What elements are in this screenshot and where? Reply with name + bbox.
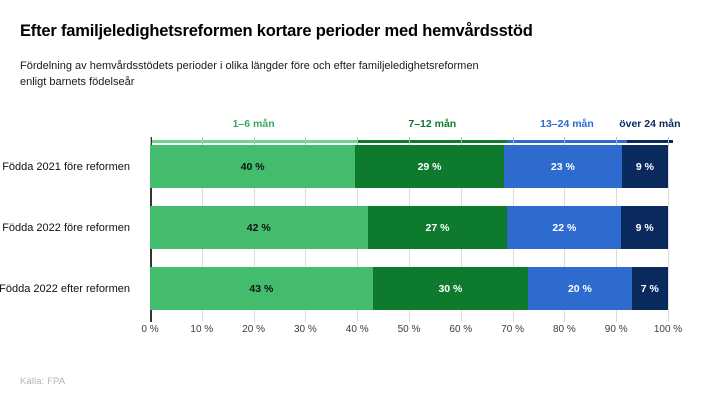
x-axis-tick <box>409 137 410 145</box>
x-axis-tick <box>254 137 255 145</box>
x-axis-tick <box>668 137 669 145</box>
x-axis-tick-label: 20 % <box>242 324 265 335</box>
legend-item[interactable]: över 24 mån <box>615 118 686 130</box>
bar-row[interactable]: 40 %29 %23 %9 % <box>150 145 668 188</box>
x-axis-tick <box>357 137 358 145</box>
bar-segment-value: 40 % <box>241 161 265 173</box>
bar-segment[interactable]: 40 % <box>150 145 355 188</box>
category-label: Födda 2022 före reformen <box>0 206 130 249</box>
x-axis-tick <box>616 137 617 145</box>
bar-segment-value: 29 % <box>418 161 442 173</box>
gridline <box>668 145 669 322</box>
chart-subtitle: Fördelning av hemvårdsstödets perioder i… <box>20 58 479 90</box>
bar-segment-value: 20 % <box>568 283 592 295</box>
bar-segment-value: 22 % <box>552 222 576 234</box>
x-axis-tick-label: 80 % <box>553 324 576 335</box>
category-axis-labels: Födda 2021 före reformenFödda 2022 före … <box>0 145 140 322</box>
bar-row[interactable]: 43 %30 %20 %7 % <box>150 267 668 310</box>
x-axis-tick <box>564 137 565 145</box>
bar-segment-value: 9 % <box>636 222 654 234</box>
bar-segment[interactable]: 27 % <box>368 206 508 249</box>
legend-item[interactable]: 13–24 mån <box>507 118 626 130</box>
bar-segment[interactable]: 22 % <box>507 206 621 249</box>
bar-segment[interactable]: 20 % <box>528 267 632 310</box>
chart-page: Efter familjeledighetsreformen kortare p… <box>0 0 720 405</box>
x-axis: 0 %10 %20 %30 %40 %50 %60 %70 %80 %90 %1… <box>150 324 668 344</box>
bar-segment-value: 43 % <box>249 283 273 295</box>
x-axis-tick-label: 30 % <box>294 324 317 335</box>
legend-color-rule <box>627 140 674 143</box>
source-note: Källa: FPA <box>20 376 65 387</box>
x-axis-tick <box>150 137 151 145</box>
x-axis-tick-label: 40 % <box>346 324 369 335</box>
x-axis-tick-label: 70 % <box>501 324 524 335</box>
chart-subtitle-line-1: Fördelning av hemvårdsstödets perioder i… <box>20 58 479 74</box>
x-axis-tick-label: 10 % <box>190 324 213 335</box>
bar-segment-value: 9 % <box>636 161 654 173</box>
bar-segment-value: 30 % <box>438 283 462 295</box>
x-axis-tick-label: 50 % <box>398 324 421 335</box>
x-axis-tick-label: 90 % <box>605 324 628 335</box>
plot-area: 40 %29 %23 %9 %42 %27 %22 %9 %43 %30 %20… <box>150 145 668 322</box>
bar-segment[interactable]: 23 % <box>504 145 622 188</box>
x-axis-tick <box>202 137 203 145</box>
chart-subtitle-line-2: enligt barnets födelseår <box>20 74 479 90</box>
legend-color-rule <box>357 140 507 143</box>
x-axis-tick-label: 60 % <box>449 324 472 335</box>
x-axis-tick-label: 100 % <box>654 324 682 335</box>
bar-segment[interactable]: 7 % <box>632 267 668 310</box>
bar-segment[interactable]: 9 % <box>621 206 668 249</box>
bar-segment-value: 7 % <box>641 283 659 295</box>
legend-color-rule <box>507 140 626 143</box>
bar-segment[interactable]: 42 % <box>150 206 368 249</box>
bar-row[interactable]: 42 %27 %22 %9 % <box>150 206 668 249</box>
bar-segment[interactable]: 30 % <box>373 267 528 310</box>
bar-segment-value: 27 % <box>426 222 450 234</box>
page-title: Efter familjeledighetsreformen kortare p… <box>20 22 533 41</box>
bar-segment[interactable]: 29 % <box>355 145 504 188</box>
legend-item[interactable]: 7–12 mån <box>357 118 507 130</box>
x-axis-tick <box>305 137 306 145</box>
category-label: Födda 2021 före reformen <box>0 145 130 188</box>
x-axis-tick-label: 0 % <box>141 324 158 335</box>
bar-segment[interactable]: 9 % <box>622 145 668 188</box>
bar-segment-value: 23 % <box>551 161 575 173</box>
x-axis-tick <box>461 137 462 145</box>
bar-segment[interactable]: 43 % <box>150 267 373 310</box>
legend-item[interactable]: 1–6 mån <box>150 118 357 130</box>
category-label: Födda 2022 efter reformen <box>0 267 130 310</box>
bar-segment-value: 42 % <box>247 222 271 234</box>
x-axis-tick <box>513 137 514 145</box>
